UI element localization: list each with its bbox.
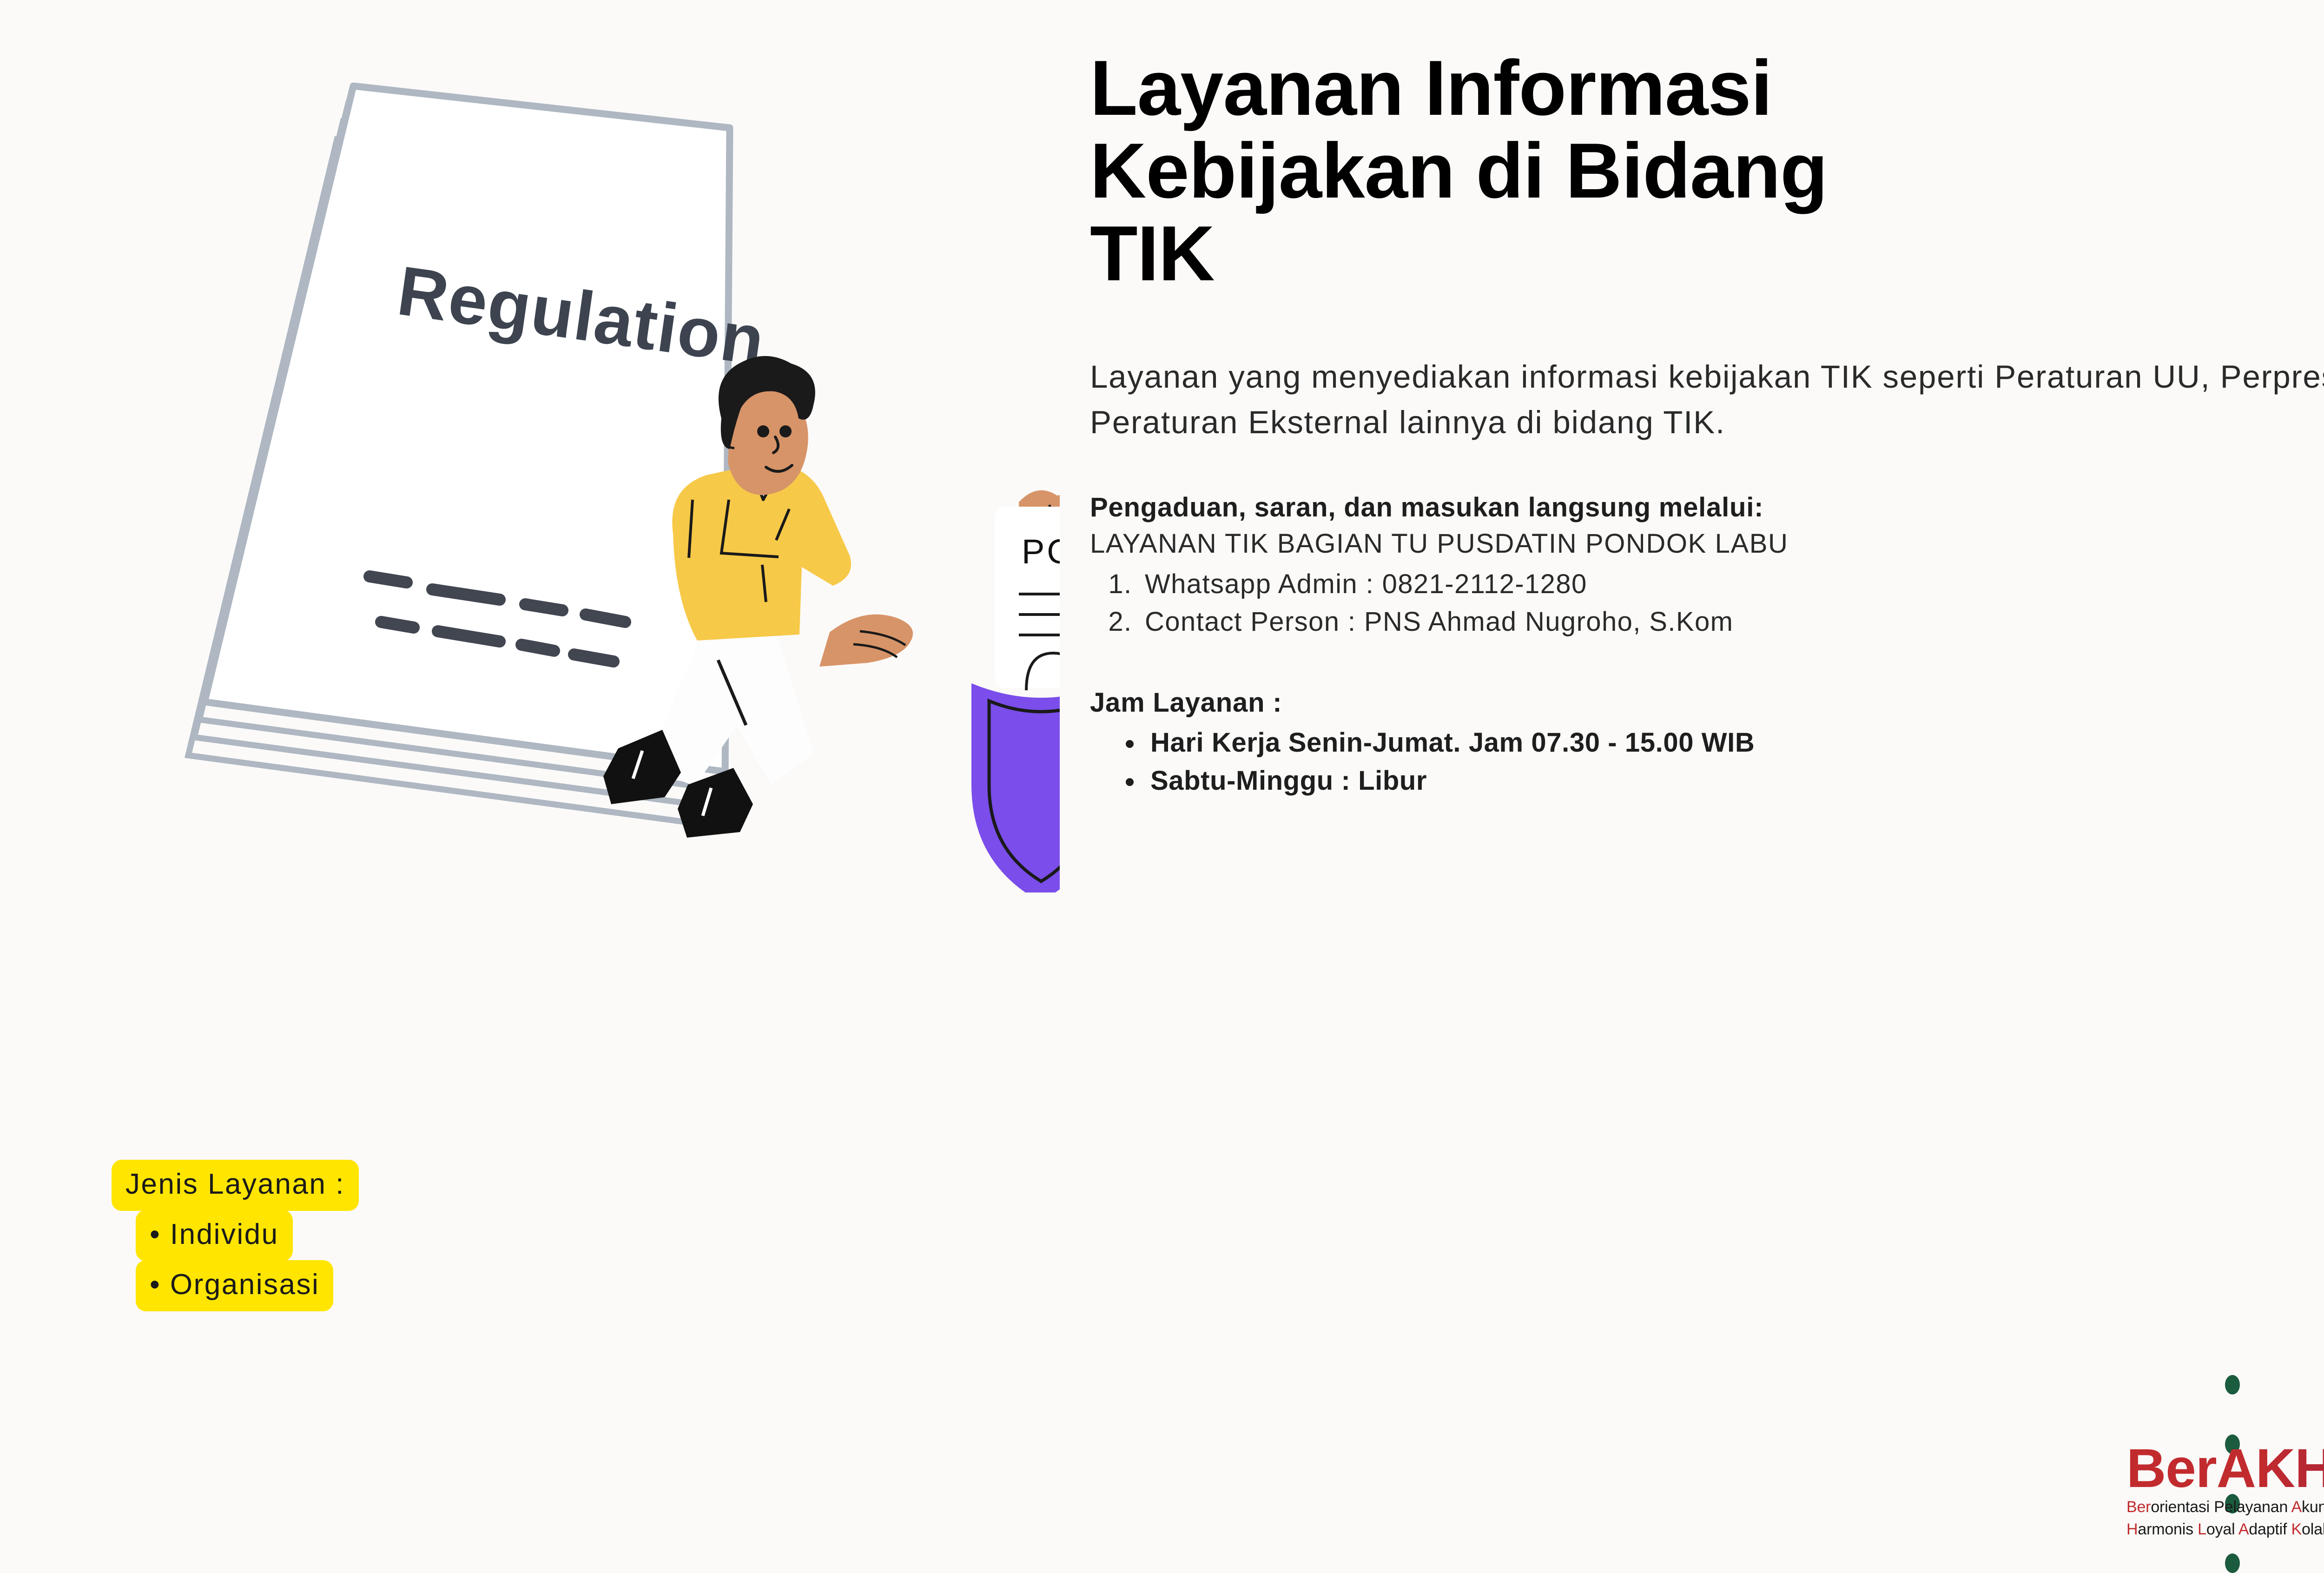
berakhlak-logo: BerAKHLAK Berorientasi Pelayanan Akuntab… [2126, 1441, 2324, 1541]
complaint-lead: Pengaduan, saran, dan masukan langsung m… [1090, 490, 2324, 526]
book-cover [205, 86, 730, 772]
spacer [1090, 641, 2324, 685]
berakhlak-wordmark: BerAKHLAK [2126, 1441, 2324, 1496]
berakhlak-tagline-line2: Harmonis Loyal Adaptif Kolaboratif [2126, 1518, 2324, 1540]
spacer [1090, 445, 2324, 490]
list-item: Hari Kerja Senin-Jumat. Jam 07.30 - 15.0… [1145, 724, 2324, 762]
dot [2225, 1553, 2240, 1573]
content-column: Layanan Informasi Kebijakan di Bidang TI… [1090, 46, 2324, 800]
service-type-label: Jenis Layanan : [112, 1160, 359, 1211]
page-title: Layanan Informasi Kebijakan di Bidang TI… [1090, 46, 2324, 295]
list-item: Sabtu-Minggu : Libur [1145, 762, 2324, 800]
logo-lockup: BerAKHLAK Berorientasi Pelayanan Akuntab… [2117, 1362, 2324, 1569]
service-type-callout: Jenis Layanan : • Individu • Organisasi [112, 1160, 576, 1311]
contact-list: Whatsapp Admin : 0821-2112-1280 Contact … [1090, 565, 2324, 641]
list-item: Whatsapp Admin : 0821-2112-1280 [1140, 565, 2324, 603]
service-unit-name: LAYANAN TIK BAGIAN TU PUSDATIN PONDOK LA… [1090, 526, 2324, 562]
berakhlak-tagline-line1: Berorientasi Pelayanan Akuntabel Kompete… [2126, 1496, 2324, 1518]
list-item: Contact Person : PNS Ahmad Nugroho, S.Ko… [1140, 603, 2324, 641]
service-hours-label: Jam Layanan : [1090, 685, 2324, 721]
list-item: • Individu [136, 1210, 293, 1261]
service-hours-list: Hari Kerja Senin-Jumat. Jam 07.30 - 15.0… [1090, 724, 2324, 800]
dot [2225, 1375, 2240, 1395]
regulation-illustration: Regulation [153, 42, 1060, 892]
shield-icon [971, 683, 1060, 892]
policy-document: POLICY [995, 507, 1060, 699]
svg-text:POLICY: POLICY [1022, 532, 1060, 571]
list-item: • Organisasi [136, 1260, 333, 1311]
service-description: Layanan yang menyediakan informasi kebij… [1090, 354, 2324, 445]
